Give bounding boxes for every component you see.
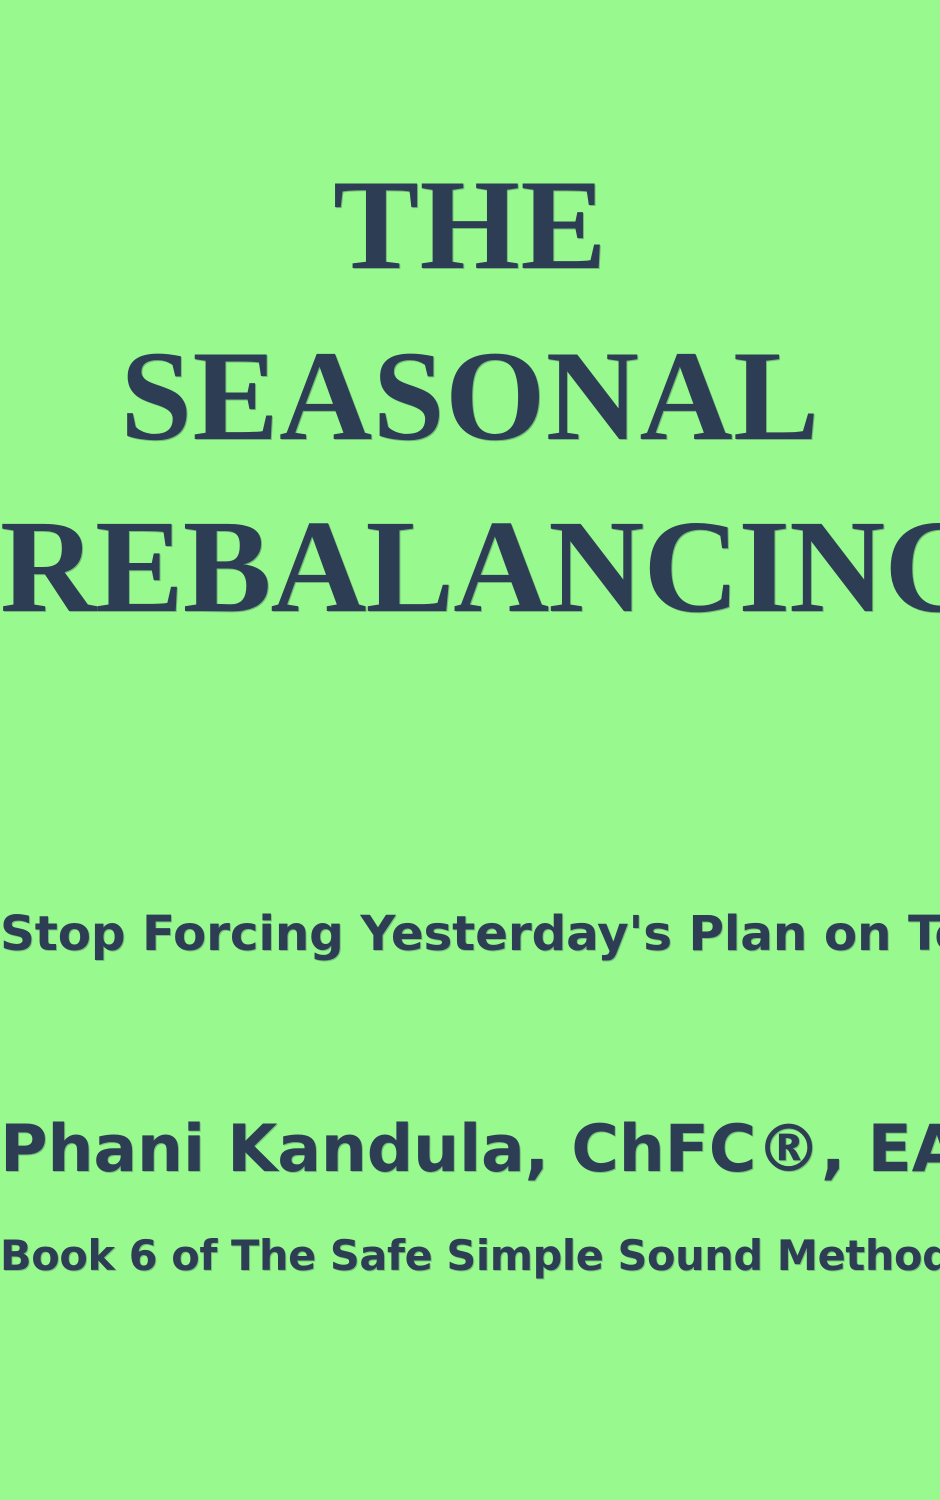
title-line-seasonal: SEASONAL xyxy=(0,310,940,481)
title-line-the: THE xyxy=(0,139,940,310)
book-subtitle: Stop Forcing Yesterday's Plan on Today xyxy=(0,903,940,965)
book-series-line: Book 6 of The Safe Simple Sound Methodol… xyxy=(0,1230,940,1282)
title-line-rebalancing: REBALANCING xyxy=(0,481,940,652)
book-cover: THE SEASONAL REBALANCING Stop Forcing Ye… xyxy=(0,0,940,1500)
book-author: Phani Kandula, ChFC®, EA xyxy=(0,1110,940,1190)
book-title: THE SEASONAL REBALANCING xyxy=(0,139,940,652)
